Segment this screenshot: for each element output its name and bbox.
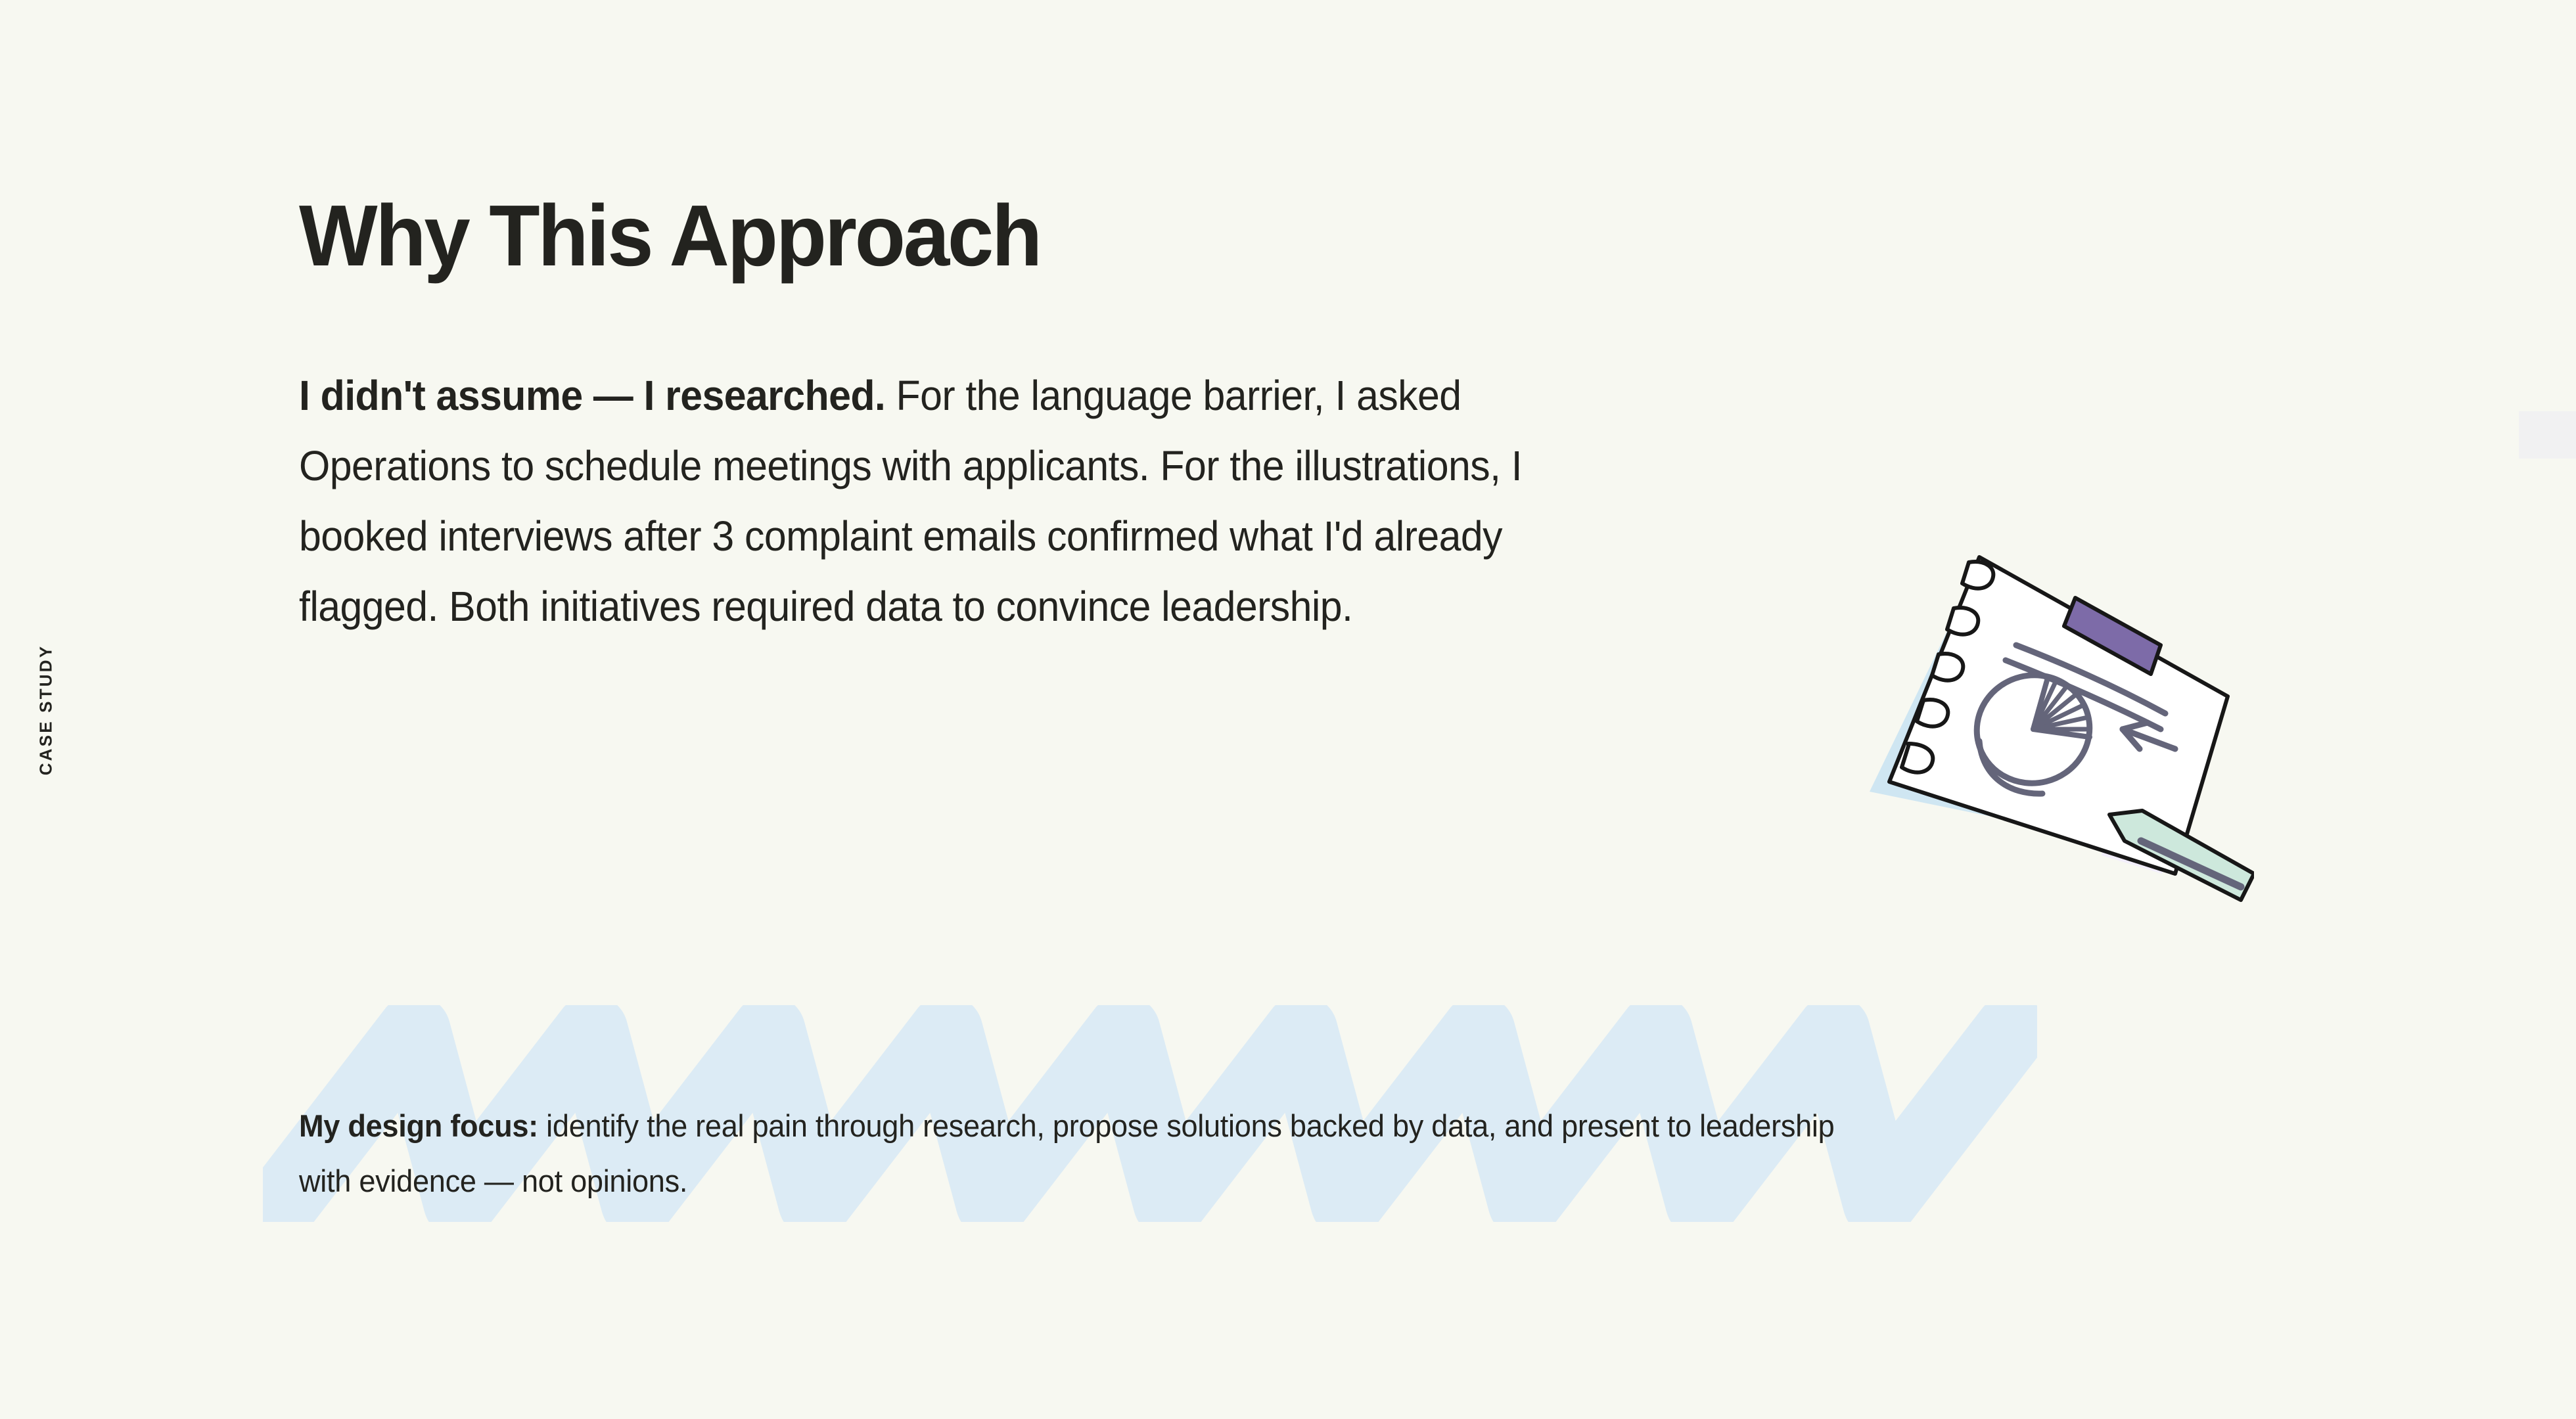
page-title: Why This Approach [299,192,1040,279]
notepad-with-pie-chart-illustration [1833,532,2254,913]
design-focus-block: My design focus: identify the real pain … [299,1068,1955,1240]
body-paragraph: I didn't assume — I researched. For the … [299,361,1647,642]
design-focus-text: My design focus: identify the real pain … [299,1098,1889,1209]
slide-canvas: CASE STUDY Why This Approach I didn't as… [0,0,2576,1419]
case-study-rail-label: CASE STUDY [0,591,92,828]
right-edge-panel [2519,411,2576,459]
rail-label-text: CASE STUDY [36,644,57,775]
design-focus-label: My design focus: [299,1108,538,1143]
body-lead-bold: I didn't assume — I researched. [299,372,885,419]
